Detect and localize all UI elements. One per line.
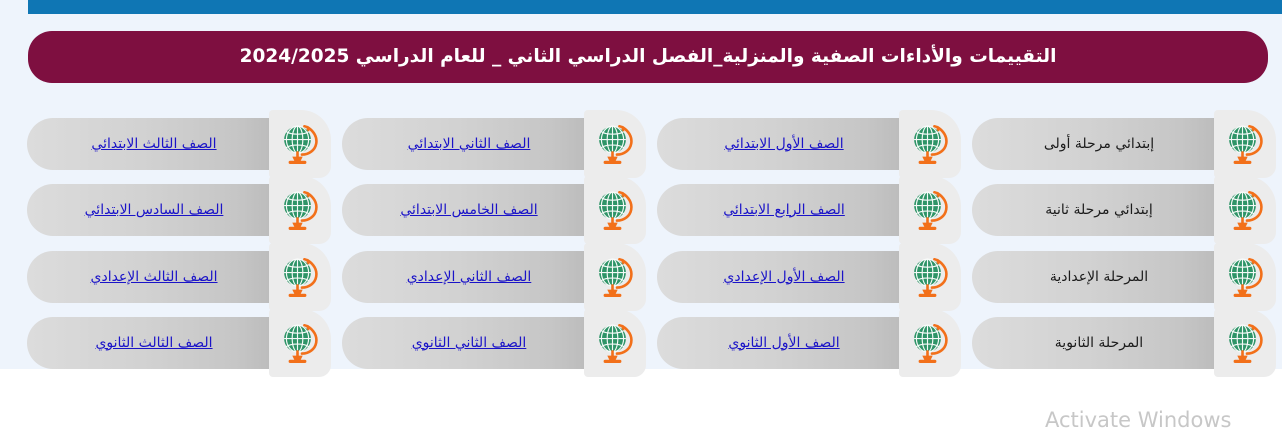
grade-card-label[interactable]: الصف الثالث الابتدائي [91, 136, 216, 153]
grade-card-grades-second-1[interactable]: الصف الخامس الابتدائي [342, 184, 644, 236]
grade-card-grades-first-3[interactable]: الصف الأول الثانوي [657, 317, 959, 369]
grade-card-pill[interactable]: الصف الثالث الثانوي [27, 317, 281, 369]
watermark-line-1: Activate Windows [1045, 408, 1275, 432]
globe-icon [1225, 255, 1265, 299]
grade-card-grades-third-3[interactable]: الصف الثالث الثانوي [27, 317, 329, 369]
globe-icon-tile [269, 176, 331, 244]
grade-card-label[interactable]: الصف الثاني الابتدائي [408, 136, 531, 153]
grade-card-pill[interactable]: الصف الرابع الابتدائي [657, 184, 911, 236]
grade-grid: إبتدائي مرحلة أولى [0, 110, 1282, 370]
globe-icon [280, 321, 320, 365]
globe-icon [910, 122, 950, 166]
grade-card-label: المرحلة الإعدادية [1050, 269, 1148, 286]
globe-icon [280, 122, 320, 166]
grade-card-stages-1: إبتدائي مرحلة ثانية [972, 184, 1274, 236]
globe-icon [280, 255, 320, 299]
grade-card-grades-second-3[interactable]: الصف الثاني الثانوي [342, 317, 644, 369]
page-root: التقييمات والأداءات الصفية والمنزلية_الف… [0, 0, 1282, 435]
grade-card-label[interactable]: الصف الأول الثانوي [728, 335, 839, 352]
grade-card-label[interactable]: الصف الثاني الإعدادي [407, 269, 532, 286]
globe-icon-tile [584, 176, 646, 244]
globe-icon-tile [899, 309, 961, 377]
globe-icon-tile [899, 243, 961, 311]
grade-card-label[interactable]: الصف الثالث الثانوي [95, 335, 212, 352]
grade-card-label[interactable]: الصف السادس الابتدائي [85, 202, 224, 219]
grade-card-pill[interactable]: الصف الأول الثانوي [657, 317, 911, 369]
globe-icon [910, 188, 950, 232]
grade-card-pill[interactable]: الصف الأول الإعدادي [657, 251, 911, 303]
grade-card-pill: المرحلة الثانوية [972, 317, 1226, 369]
grade-card-label: المرحلة الثانوية [1055, 335, 1143, 352]
grade-card-pill[interactable]: الصف الأول الابتدائي [657, 118, 911, 170]
globe-icon [595, 321, 635, 365]
globe-icon-tile [1214, 243, 1276, 311]
globe-icon-tile [584, 110, 646, 178]
globe-icon [910, 321, 950, 365]
grade-card-grades-second-2[interactable]: الصف الثاني الإعدادي [342, 251, 644, 303]
globe-icon-tile [584, 309, 646, 377]
globe-icon-tile [269, 309, 331, 377]
grade-column-grades-second: الصف الثاني الابتدائي [335, 110, 652, 370]
globe-icon-tile [269, 243, 331, 311]
grade-card-grades-first-2[interactable]: الصف الأول الإعدادي [657, 251, 959, 303]
grade-card-label[interactable]: الصف الخامس الابتدائي [400, 202, 537, 219]
grade-card-label: إبتدائي مرحلة أولى [1044, 136, 1154, 153]
grade-card-pill[interactable]: الصف الثاني الابتدائي [342, 118, 596, 170]
grade-card-grades-second-0[interactable]: الصف الثاني الابتدائي [342, 118, 644, 170]
globe-icon-tile [1214, 110, 1276, 178]
top-blue-bar [28, 0, 1282, 14]
grade-card-label[interactable]: الصف الأول الابتدائي [724, 136, 843, 153]
page-title: التقييمات والأداءات الصفية والمنزلية_الف… [240, 45, 1057, 68]
activate-windows-watermark: Activate Windows [1045, 408, 1275, 432]
grade-card-grades-first-1[interactable]: الصف الرابع الابتدائي [657, 184, 959, 236]
grade-card-grades-third-0[interactable]: الصف الثالث الابتدائي [27, 118, 329, 170]
grade-card-pill[interactable]: الصف الثالث الإعدادي [27, 251, 281, 303]
grade-column-grades-third: الصف الثالث الابتدائي [20, 110, 337, 370]
grade-card-pill: المرحلة الإعدادية [972, 251, 1226, 303]
globe-icon-tile [269, 110, 331, 178]
grade-column-grades-first: الصف الأول الابتدائي [650, 110, 967, 370]
grade-card-label: إبتدائي مرحلة ثانية [1045, 202, 1153, 219]
globe-icon-tile [1214, 309, 1276, 377]
globe-icon [595, 255, 635, 299]
grade-card-label[interactable]: الصف الرابع الابتدائي [723, 202, 845, 219]
grade-card-pill[interactable]: الصف السادس الابتدائي [27, 184, 281, 236]
grade-card-pill[interactable]: الصف الخامس الابتدائي [342, 184, 596, 236]
globe-icon [280, 188, 320, 232]
globe-icon [1225, 188, 1265, 232]
grade-card-stages-2: المرحلة الإعدادية [972, 251, 1274, 303]
grade-card-pill: إبتدائي مرحلة أولى [972, 118, 1226, 170]
grade-card-stages-3: المرحلة الثانوية [972, 317, 1274, 369]
grade-card-label[interactable]: الصف الثالث الإعدادي [91, 269, 218, 286]
grade-card-label[interactable]: الصف الثاني الثانوي [412, 335, 527, 352]
grade-column-stages: إبتدائي مرحلة أولى [965, 110, 1282, 370]
grade-card-pill[interactable]: الصف الثاني الثانوي [342, 317, 596, 369]
globe-icon [595, 188, 635, 232]
globe-icon [910, 255, 950, 299]
globe-icon-tile [899, 176, 961, 244]
grade-card-grades-first-0[interactable]: الصف الأول الابتدائي [657, 118, 959, 170]
globe-icon [595, 122, 635, 166]
grade-card-grades-third-2[interactable]: الصف الثالث الإعدادي [27, 251, 329, 303]
grade-card-pill: إبتدائي مرحلة ثانية [972, 184, 1226, 236]
grade-card-stages-0: إبتدائي مرحلة أولى [972, 118, 1274, 170]
globe-icon [1225, 122, 1265, 166]
grade-card-grades-third-1[interactable]: الصف السادس الابتدائي [27, 184, 329, 236]
globe-icon-tile [1214, 176, 1276, 244]
globe-icon-tile [584, 243, 646, 311]
globe-icon-tile [899, 110, 961, 178]
globe-icon [1225, 321, 1265, 365]
grade-card-pill[interactable]: الصف الثالث الابتدائي [27, 118, 281, 170]
page-title-banner: التقييمات والأداءات الصفية والمنزلية_الف… [28, 31, 1268, 83]
grade-card-pill[interactable]: الصف الثاني الإعدادي [342, 251, 596, 303]
grade-card-label[interactable]: الصف الأول الإعدادي [723, 269, 844, 286]
